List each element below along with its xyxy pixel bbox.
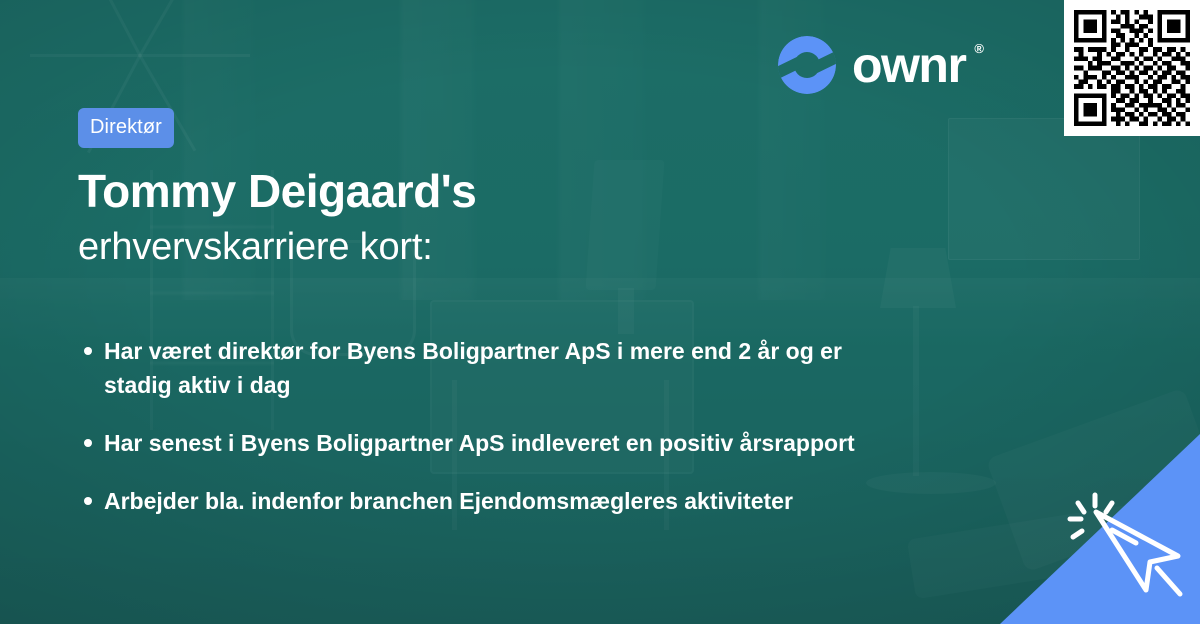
ownr-logo: ownr ® (778, 36, 965, 94)
ownr-wordmark: ownr ® (852, 40, 965, 90)
qr-code[interactable] (1064, 0, 1200, 136)
list-item: Arbejder bla. indenfor branchen Ejendoms… (78, 484, 904, 518)
card-content: Direktør Tommy Deigaard's erhvervskarrie… (78, 108, 978, 542)
list-item: Har været direktør for Byens Boligpartne… (78, 334, 904, 402)
career-highlights-list: Har været direktør for Byens Boligpartne… (78, 334, 978, 518)
role-badge: Direktør (78, 108, 174, 148)
business-card-graphic: ownr ® Direktør Tommy Deigaard's erhverv… (0, 0, 1200, 624)
page-title: Tommy Deigaard's (78, 168, 978, 214)
click-cursor-icon (1062, 486, 1192, 606)
ownr-logo-mark-icon (778, 36, 836, 94)
page-subtitle: erhvervskarriere kort: (78, 228, 978, 266)
list-item: Har senest i Byens Boligpartner ApS indl… (78, 426, 904, 460)
registered-trademark-icon: ® (974, 42, 982, 55)
qr-code-image (1074, 10, 1190, 126)
ownr-wordmark-text: ownr (852, 37, 965, 93)
